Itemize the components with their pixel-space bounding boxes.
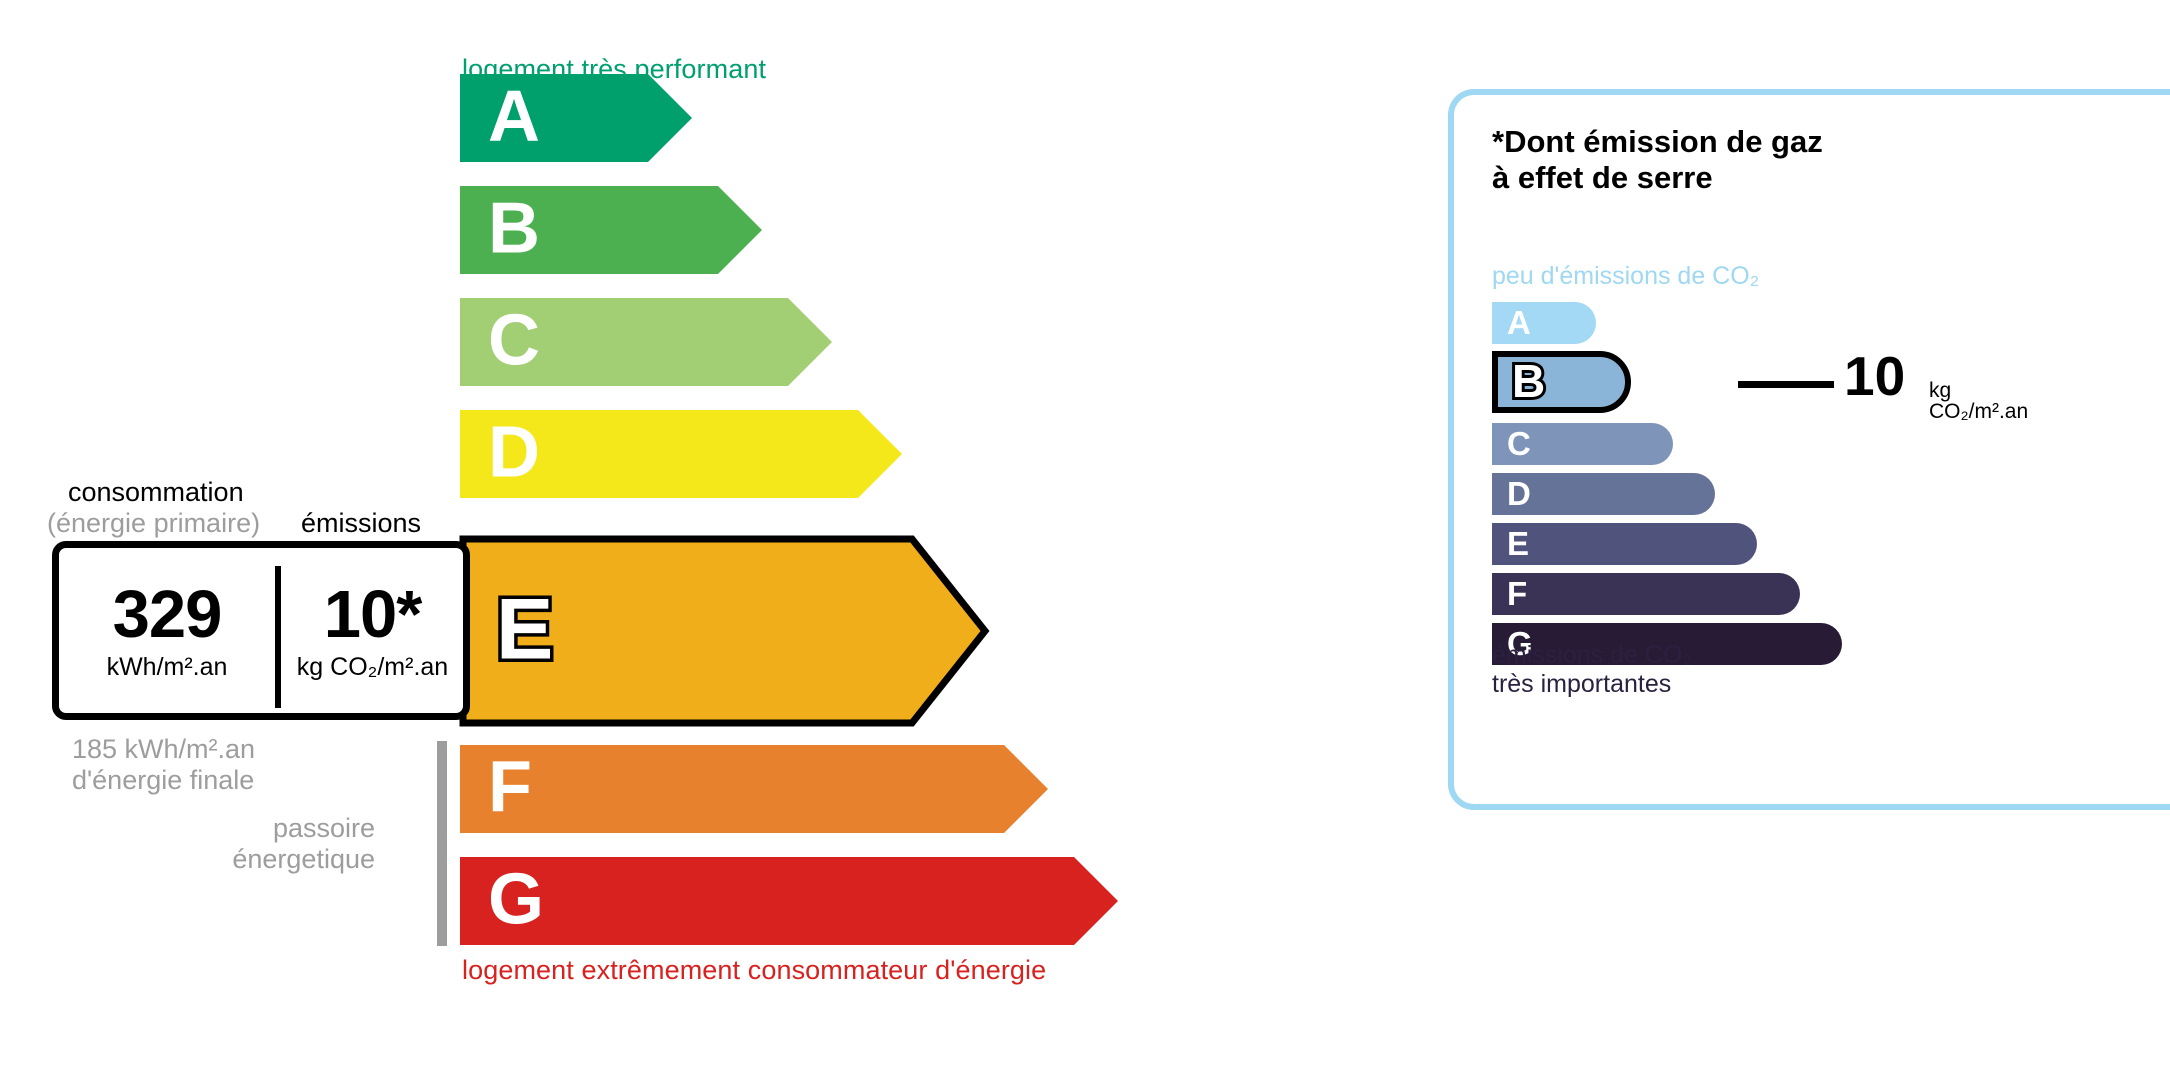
energy-band-C-letter: C: [488, 305, 540, 377]
co2-band-C-letter: C: [1507, 427, 1531, 460]
energy-band-D-letter: D: [488, 417, 540, 489]
energy-band-G-shape: [460, 857, 1118, 945]
co2-band-D-bar: D: [1492, 473, 1715, 515]
label-energie-primaire: (énergie primaire): [47, 508, 260, 539]
energy-band-C: C: [460, 298, 832, 386]
co2-band-B-selected: B 10 kg CO₂/m².an: [1492, 351, 1631, 413]
emission-cell: 10* kg CO₂/m².an: [275, 548, 470, 713]
emission-value: 10*: [324, 581, 422, 648]
label-consommation: consommation: [68, 477, 244, 508]
energy-band-F-letter: F: [488, 752, 532, 824]
energy-band-E-selected: E: [460, 536, 988, 726]
energy-band-G-letter: G: [488, 864, 544, 936]
co2-band-B-bar: B: [1492, 351, 1631, 413]
co2-band-B-letter: B: [1512, 358, 1545, 404]
co2-band-D-letter: D: [1507, 477, 1531, 510]
co2-band-F-letter: F: [1507, 577, 1527, 610]
energy-band-B: B: [460, 186, 762, 274]
co2-band-F: F: [1492, 573, 1800, 615]
passoire-indicator-bar: [437, 741, 447, 946]
energy-band-F-shape: [460, 745, 1048, 833]
co2-value-connector-line: [1738, 381, 1834, 388]
energy-band-D: D: [460, 410, 902, 498]
label-energie-finale: 185 kWh/m².and'énergie finale: [72, 734, 255, 796]
co2-band-E: E: [1492, 523, 1757, 565]
co2-band-F-bar: F: [1492, 573, 1800, 615]
energy-band-F: F: [460, 745, 1048, 833]
label-emissions: émissions: [301, 508, 421, 539]
co2-band-E-letter: E: [1507, 527, 1529, 560]
co2-panel-title: *Dont émission de gazà effet de serre: [1492, 124, 1823, 196]
consumption-cell: 329 kWh/m².an: [59, 548, 275, 713]
energy-band-A: A: [460, 74, 692, 162]
energy-band-G: G: [460, 857, 1118, 945]
co2-band-D: D: [1492, 473, 1715, 515]
co2-band-A: A: [1492, 302, 1596, 344]
energy-band-E-letter: E: [496, 586, 553, 672]
energy-bottom-caption: logement extrêmement consommateur d'éner…: [462, 955, 1046, 986]
co2-value: 10: [1844, 349, 1905, 404]
energy-performance-chart: logement très performant A B C D E: [0, 0, 1300, 1079]
co2-bottom-caption: émissions de CO₂très importantes: [1492, 641, 1692, 699]
consumption-unit: kWh/m².an: [107, 655, 228, 680]
co2-band-E-bar: E: [1492, 523, 1757, 565]
consumption-value: 329: [113, 581, 222, 648]
co2-band-A-letter: A: [1507, 306, 1531, 339]
energy-band-B-letter: B: [488, 193, 540, 265]
energy-band-A-letter: A: [488, 81, 540, 153]
co2-value-unit: kg CO₂/m².an: [1929, 380, 2028, 422]
co2-band-C: C: [1492, 423, 1673, 465]
label-passoire-energetique: passoireénergetique: [190, 813, 375, 875]
co2-band-C-bar: C: [1492, 423, 1673, 465]
emission-unit: kg CO₂/m².an: [297, 655, 448, 680]
co2-top-caption: peu d'émissions de CO₂: [1492, 262, 1759, 291]
co2-emissions-panel: *Dont émission de gazà effet de serre pe…: [1448, 89, 2170, 810]
co2-band-A-bar: A: [1492, 302, 1596, 344]
measurement-box: 329 kWh/m².an 10* kg CO₂/m².an: [52, 541, 470, 720]
